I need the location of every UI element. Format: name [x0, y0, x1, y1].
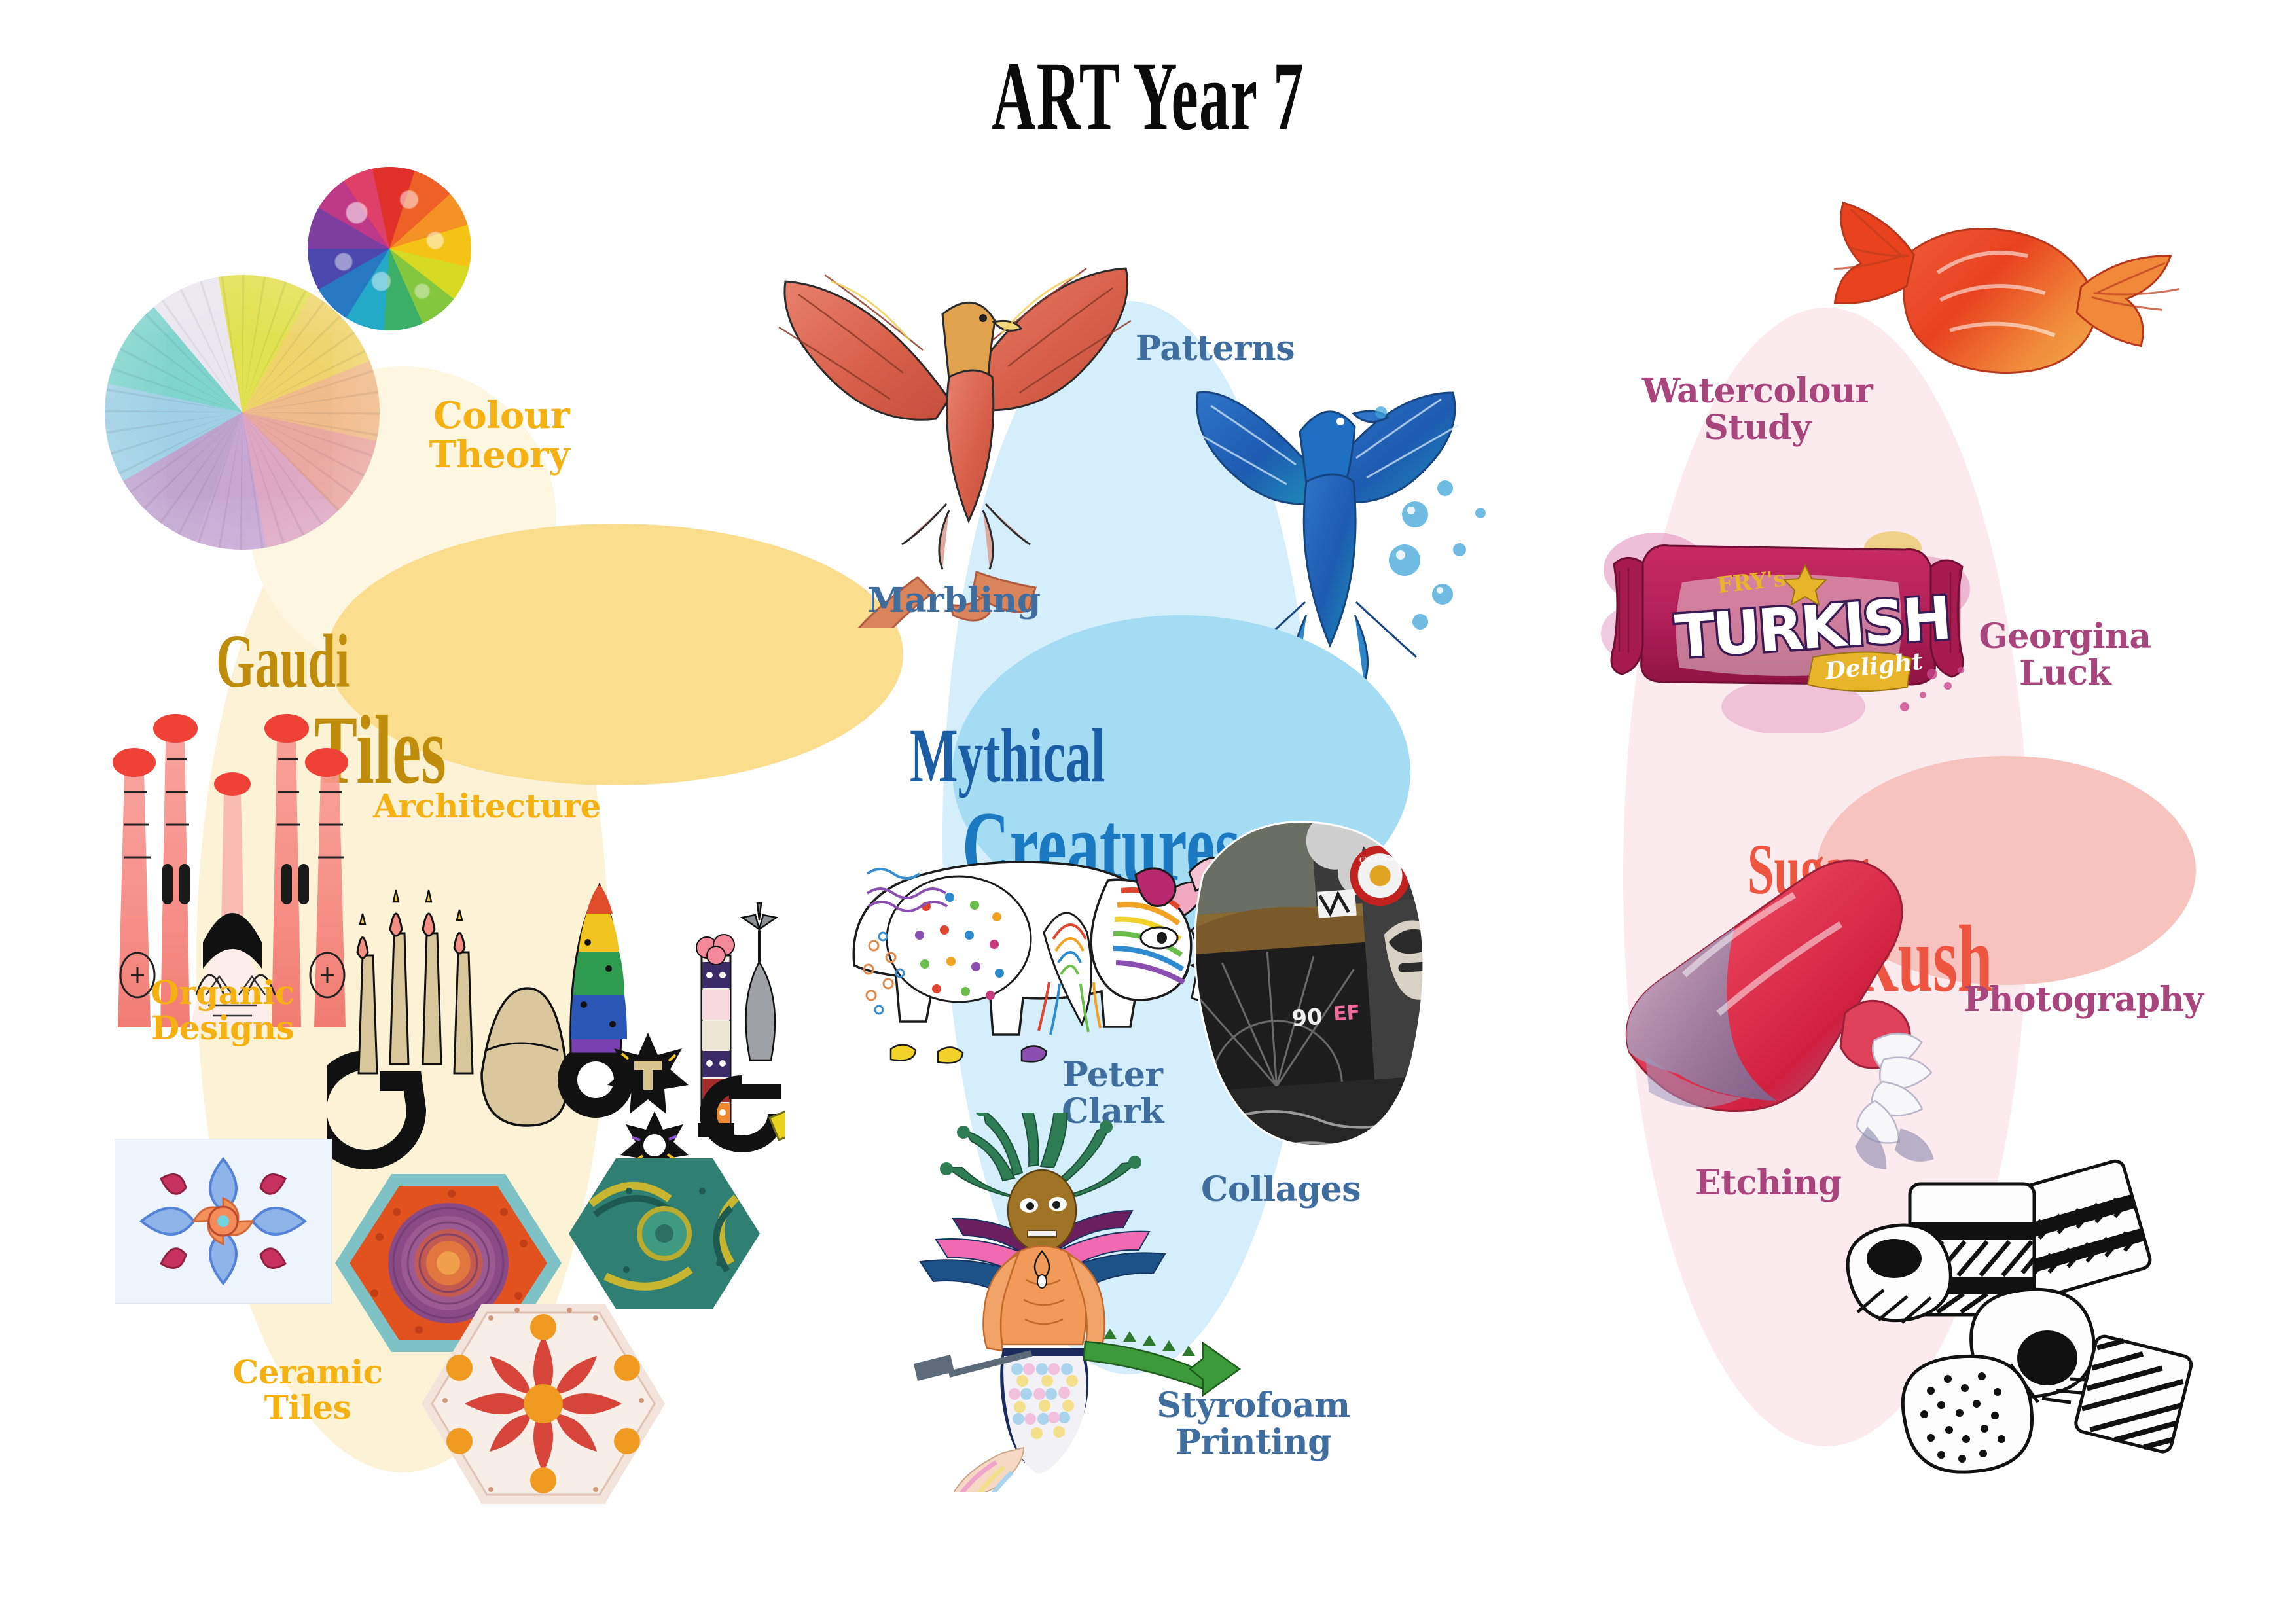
label-georgina-luck: Georgina Luck	[1970, 618, 2160, 692]
label-ceramic-tiles: Ceramic Tiles	[223, 1355, 393, 1425]
ceramic-hexagon-flower-artwork	[419, 1296, 668, 1512]
label-organic-designs: Organic Designs	[141, 975, 304, 1046]
ceramic-hexagon-green-artwork	[566, 1152, 762, 1315]
theme-title-tiles: Tiles	[314, 609, 746, 797]
svg-text:EF: EF	[1333, 1001, 1361, 1026]
turkish-delight-bar-artwork: FRY's TURKISH Delight	[1597, 510, 1983, 733]
label-architecture: Architecture	[373, 789, 601, 824]
svg-text:Bike bells: Bike bells	[1179, 988, 1200, 1060]
label-watercolour-study: Watercolour Study	[1630, 373, 1885, 446]
label-colour-theory: Colour Theory	[399, 396, 569, 475]
kaleidoscope-tile-design-artwork	[115, 1139, 332, 1304]
phoenix-drawing-artwork	[753, 203, 1158, 628]
label-styrofoam-printing: Styrofoam Printing	[1152, 1387, 1355, 1461]
label-etching: Etching	[1695, 1165, 1842, 1202]
colour-wheel-architecture-artwork	[105, 275, 380, 550]
gaudi-google-doodle-artwork	[327, 864, 785, 1191]
label-marbling: Marbling	[867, 582, 1041, 619]
liquorice-allsorts-etching-artwork	[1826, 1149, 2206, 1476]
svg-text:90: 90	[1291, 1004, 1323, 1032]
label-photography: Photography	[1964, 982, 2204, 1018]
art-year7-poster: ART Year 7 Colour Theory Gaudi Tiles	[0, 0, 2296, 1623]
page-title: ART Year 7	[437, 47, 1860, 145]
colour-wheel-found-objects-artwork	[308, 167, 471, 330]
pink-sweet-watercolour-artwork	[1593, 819, 2000, 1204]
